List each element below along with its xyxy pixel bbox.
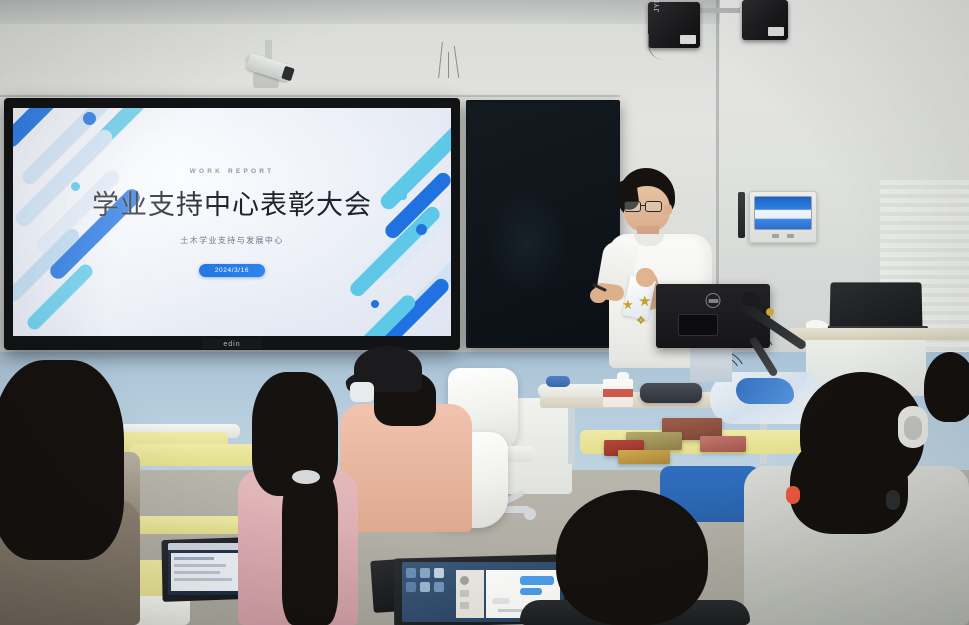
eyeglasses-icon [624, 201, 668, 212]
gift-box [700, 436, 746, 452]
student-ponytail [282, 470, 338, 625]
slide-eyebrow: WORK REPORT [190, 168, 275, 175]
microphone-connector [766, 308, 774, 316]
dell-logo-icon [706, 293, 721, 308]
speaker-label-tag [768, 27, 784, 36]
earphone-icon [786, 486, 800, 504]
student-hair-strand [74, 400, 116, 530]
headphone-earcup-icon [904, 416, 922, 440]
glasses-lens-right [645, 201, 662, 212]
slide-content: WORK REPORT 学业支持中心表彰大会 土木学业支持与发展中心 2024/… [13, 108, 451, 336]
star-graphic-icon: ★ [622, 298, 634, 311]
control-panel-screen[interactable] [754, 196, 812, 230]
earphone-icon [886, 490, 900, 510]
control-button[interactable] [772, 234, 779, 238]
speaker-bracket [700, 8, 740, 13]
student-desk [128, 516, 248, 534]
blue-object [546, 376, 570, 387]
presenter-hand-right [636, 268, 655, 287]
wall-trim-bar [738, 192, 745, 238]
slide-subtitle: 土木学业支持与发展中心 [180, 235, 283, 246]
glasses-lens-left [624, 201, 641, 212]
wall-control-panel[interactable] [749, 191, 817, 243]
antenna-wire [448, 52, 449, 78]
control-panel-buttons[interactable] [754, 234, 812, 238]
background-laptop-lid[interactable] [829, 282, 922, 330]
presentation-display[interactable]: WORK REPORT 学业支持中心表彰大会 土木学业支持与发展中心 2024/… [4, 98, 460, 350]
speaker-label-tag [680, 35, 696, 44]
display-screen: WORK REPORT 学业支持中心表彰大会 土木学业支持与发展中心 2024/… [13, 108, 451, 336]
microphone-head-icon[interactable] [742, 292, 760, 306]
slide-date-badge: 2024/3/16 [199, 264, 265, 277]
control-button[interactable] [787, 234, 794, 238]
plastic-bag-contents [736, 378, 794, 404]
star-graphic-icon: ★ [638, 294, 651, 309]
student-head [556, 490, 708, 625]
face-mask [350, 382, 374, 402]
gift-box [618, 450, 670, 464]
shirt-emblem-icon: ❖ [636, 316, 646, 327]
desk-leg [568, 406, 575, 464]
wall-seam [0, 95, 620, 97]
speaker-brand-label: JYD [654, 0, 661, 12]
display-brand-label: edin [202, 339, 262, 349]
monitor-stand [690, 346, 732, 382]
ceiling-speaker-right [742, 0, 788, 40]
student-head [924, 352, 969, 422]
slide-title: 学业支持中心表彰大会 [92, 183, 372, 222]
chair-caster [524, 508, 536, 520]
hair-tie [292, 470, 320, 484]
monitor-ports [678, 314, 718, 336]
student-head [790, 430, 908, 534]
background-desk [790, 328, 969, 340]
classroom-scene: JYD [0, 0, 969, 625]
